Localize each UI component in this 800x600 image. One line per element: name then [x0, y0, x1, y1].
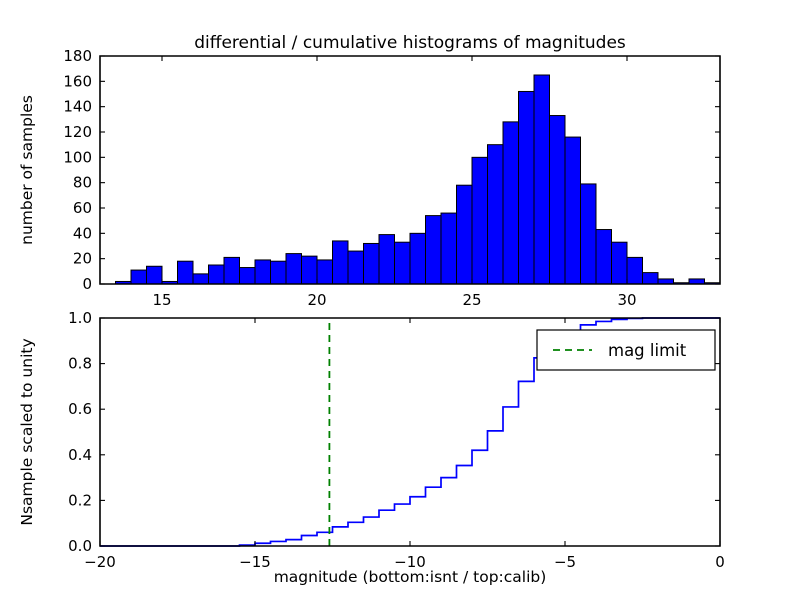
- top-y-tick-label: 80: [73, 174, 92, 192]
- histogram-bar: [224, 257, 240, 284]
- top-x-tick-label: 15: [152, 291, 171, 309]
- top-x-tick-label: 30: [617, 291, 636, 309]
- histogram-bars: [116, 75, 721, 284]
- bottom-x-tick-label: −20: [84, 553, 116, 571]
- histogram-bar: [193, 274, 209, 284]
- bottom-x-axis-label: magnitude (bottom:isnt / top:calib): [274, 568, 547, 586]
- legend-label-mag-limit: mag limit: [608, 341, 687, 360]
- histogram-bar: [209, 265, 225, 284]
- histogram-bar: [503, 122, 519, 284]
- top-y-tick-label: 100: [63, 148, 92, 166]
- histogram-bar: [147, 266, 163, 284]
- histogram-bar: [302, 256, 318, 284]
- histogram-bar: [395, 242, 411, 284]
- histogram-bar: [643, 273, 659, 284]
- histogram-bar: [348, 251, 364, 284]
- legend[interactable]: mag limit: [537, 330, 715, 370]
- histogram-bar: [581, 184, 597, 284]
- histogram-bar: [627, 257, 643, 284]
- histogram-bar: [379, 235, 395, 284]
- bottom-x-tick-label: −5: [554, 553, 576, 571]
- top-y-tick-label: 20: [73, 250, 92, 268]
- cumulative-histogram-axes: −20−15−10−50 0.00.20.40.60.81.0 Nsample …: [18, 309, 725, 586]
- histogram-bar: [271, 261, 287, 284]
- histogram-bar: [286, 254, 302, 284]
- bottom-x-tick-label: 0: [715, 553, 725, 571]
- page-title: differential / cumulative histograms of …: [194, 33, 626, 53]
- histogram-bar: [596, 230, 612, 284]
- bottom-x-tick-label: −15: [239, 553, 271, 571]
- histogram-bar: [565, 137, 581, 284]
- bottom-y-axis-label: Nsample scaled to unity: [18, 338, 36, 525]
- top-y-tick-label: 40: [73, 224, 92, 242]
- top-y-tick-label: 120: [63, 123, 92, 141]
- bottom-y-tick-label: 0.0: [68, 537, 92, 555]
- top-y-tick-label: 160: [63, 72, 92, 90]
- histogram-bar: [550, 116, 566, 284]
- bottom-y-tick-label: 0.2: [68, 491, 92, 509]
- histogram-bar: [255, 260, 271, 284]
- differential-histogram-axes: 15202530 020406080100120140160180 number…: [18, 47, 720, 309]
- histogram-bar: [364, 243, 380, 284]
- top-y-axis-label: number of samples: [18, 95, 36, 245]
- top-x-tick-label: 20: [307, 291, 326, 309]
- top-y-tick-label: 140: [63, 98, 92, 116]
- matplotlib-figure: differential / cumulative histograms of …: [0, 0, 800, 600]
- histogram-bar: [333, 241, 349, 284]
- histogram-bar: [178, 261, 194, 284]
- histogram-bar: [410, 233, 426, 284]
- top-y-tick-label: 60: [73, 199, 92, 217]
- bottom-y-tick-label: 0.8: [68, 355, 92, 373]
- histogram-bar: [519, 91, 535, 284]
- top-y-tick-label: 180: [63, 47, 92, 65]
- histogram-bar: [612, 242, 628, 284]
- histogram-bar: [131, 270, 147, 284]
- histogram-bar: [457, 185, 473, 284]
- bottom-y-tick-label: 0.6: [68, 400, 92, 418]
- histogram-bar: [426, 216, 442, 284]
- figure-canvas: differential / cumulative histograms of …: [0, 0, 800, 600]
- bottom-y-tick-label: 0.4: [68, 446, 92, 464]
- histogram-bar: [472, 157, 488, 284]
- top-y-tick-label: 0: [82, 275, 92, 293]
- bottom-y-tick-label: 1.0: [68, 309, 92, 327]
- histogram-bar: [488, 145, 504, 284]
- histogram-bar: [441, 213, 457, 284]
- histogram-bar: [534, 75, 550, 284]
- histogram-bar: [240, 268, 256, 284]
- top-x-tick-label: 25: [462, 291, 481, 309]
- histogram-bar: [317, 260, 333, 284]
